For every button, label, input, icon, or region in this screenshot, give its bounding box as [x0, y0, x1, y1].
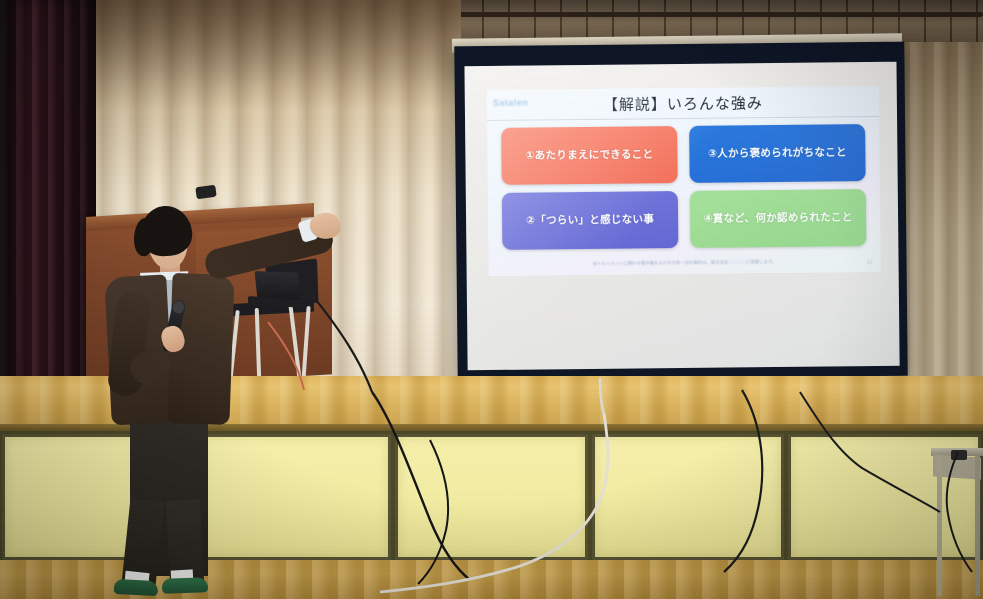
- side-table-leg: [937, 456, 942, 596]
- side-table-leg: [975, 456, 980, 596]
- curtain-rail: [430, 12, 983, 17]
- projection-screen-surface: Satalen 【解説】いろんな強み ①あたりまえにできること ③人から褒められ…: [464, 62, 899, 371]
- presenter-shoe-left: [114, 579, 159, 596]
- side-table: [931, 448, 983, 598]
- slide-box-2: ②「つらい」と感じない事: [502, 191, 679, 250]
- projection-screen-frame: Satalen 【解説】いろんな強み ①あたりまえにできること ③人から褒められ…: [454, 42, 907, 381]
- slide-footnote: 本ドキュメントに関わる著作権およびその他一切の権利は、株式会社◯◯◯◯に帰属しま…: [513, 258, 857, 268]
- projected-slide: Satalen 【解説】いろんな強み ①あたりまえにできること ③人から褒められ…: [487, 86, 881, 276]
- slide-title: 【解説】いろんな強み: [487, 91, 879, 116]
- equipment-box: [951, 450, 967, 460]
- presentation-photo: Satalen 【解説】いろんな強み ①あたりまえにできること ③人から褒められ…: [0, 0, 983, 599]
- slide-page-number: 17: [867, 260, 873, 266]
- slide-box-1: ①あたりまえにできること: [501, 126, 678, 185]
- slide-box-4: ④賞など、何か認められたこと: [690, 189, 867, 248]
- presenter: [78, 200, 348, 599]
- slide-box-grid: ①あたりまえにできること ③人から褒められがちなこと ②「つらい」と感じない事 …: [501, 124, 866, 250]
- slide-box-3: ③人から褒められがちなこと: [689, 124, 866, 183]
- stage-panel: [592, 434, 785, 560]
- stage-panel: [395, 434, 588, 560]
- presenter-shoe-right: [162, 577, 208, 594]
